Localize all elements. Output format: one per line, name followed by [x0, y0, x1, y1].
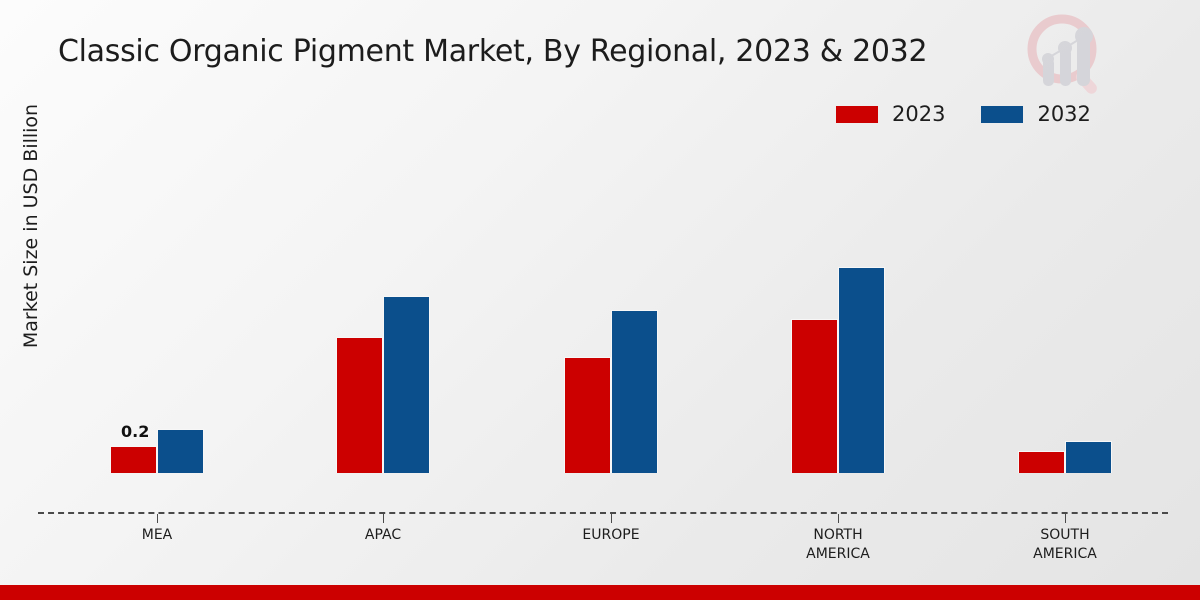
bar-north-america-2032[interactable]	[838, 267, 885, 473]
x-label-apac: APAC	[293, 526, 473, 545]
x-label-north-america-line2: AMERICA	[748, 545, 928, 564]
chart-figure: Classic Organic Pigment Market, By Regio…	[0, 0, 1200, 600]
x-label-north-america-line1: NORTH	[748, 526, 928, 545]
x-label-south-america: SOUTH AMERICA	[975, 526, 1155, 564]
bar-pair-north-america	[791, 267, 885, 473]
bar-apac-2023[interactable]	[336, 337, 383, 473]
x-tick-north-america	[838, 514, 839, 523]
bar-mea-2032[interactable]	[157, 429, 204, 473]
bar-apac-2032[interactable]	[383, 296, 430, 473]
bar-pair-south-america	[1018, 441, 1112, 473]
x-label-south-america-line2: AMERICA	[975, 545, 1155, 564]
x-label-mea: MEA	[67, 526, 247, 545]
bar-pair-europe	[564, 310, 658, 473]
bar-europe-2032[interactable]	[611, 310, 658, 473]
footer-accent-bar	[0, 585, 1200, 600]
bar-value-mea-2023: 0.2	[121, 422, 149, 441]
x-label-europe: EUROPE	[521, 526, 701, 545]
x-label-europe-line1: EUROPE	[521, 526, 701, 545]
x-tick-apac	[383, 514, 384, 523]
x-label-north-america: NORTH AMERICA	[748, 526, 928, 564]
bar-pair-apac	[336, 296, 430, 473]
x-tick-europe	[611, 514, 612, 523]
x-tick-mea	[157, 514, 158, 523]
x-label-mea-line1: MEA	[67, 526, 247, 545]
bar-north-america-2023[interactable]	[791, 319, 838, 473]
x-label-apac-line1: APAC	[293, 526, 473, 545]
x-axis-baseline	[38, 512, 1168, 514]
bar-mea-2023[interactable]	[110, 446, 157, 473]
bar-south-america-2023[interactable]	[1018, 451, 1065, 473]
x-tick-south-america	[1065, 514, 1066, 523]
x-label-south-america-line1: SOUTH	[975, 526, 1155, 545]
plot-area: 0.2 MEA APAC EUROPE	[0, 0, 1200, 560]
bar-europe-2023[interactable]	[564, 357, 611, 473]
bar-south-america-2032[interactable]	[1065, 441, 1112, 473]
